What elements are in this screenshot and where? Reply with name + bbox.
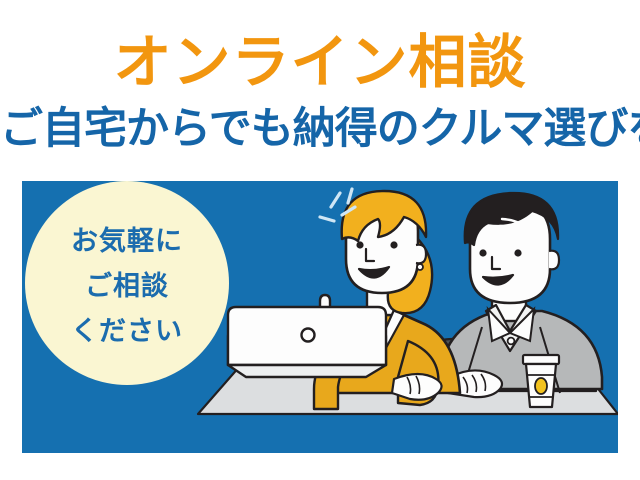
page-title: オンライン相談 [0,30,640,96]
headline-area: オンライン相談 ご自宅からでも納得のクルマ選びを [0,0,640,178]
illustration-svg [22,181,618,453]
coffee-cup [523,355,559,407]
illustration-panel: お気軽に ご相談 ください [22,181,618,453]
page-subtitle: ご自宅からでも納得のクルマ選びを [0,103,640,155]
badge-circle [25,181,229,385]
online-consultation-banner: オンライン相談 ご自宅からでも納得のクルマ選びを [0,0,640,480]
laptop [226,307,386,377]
